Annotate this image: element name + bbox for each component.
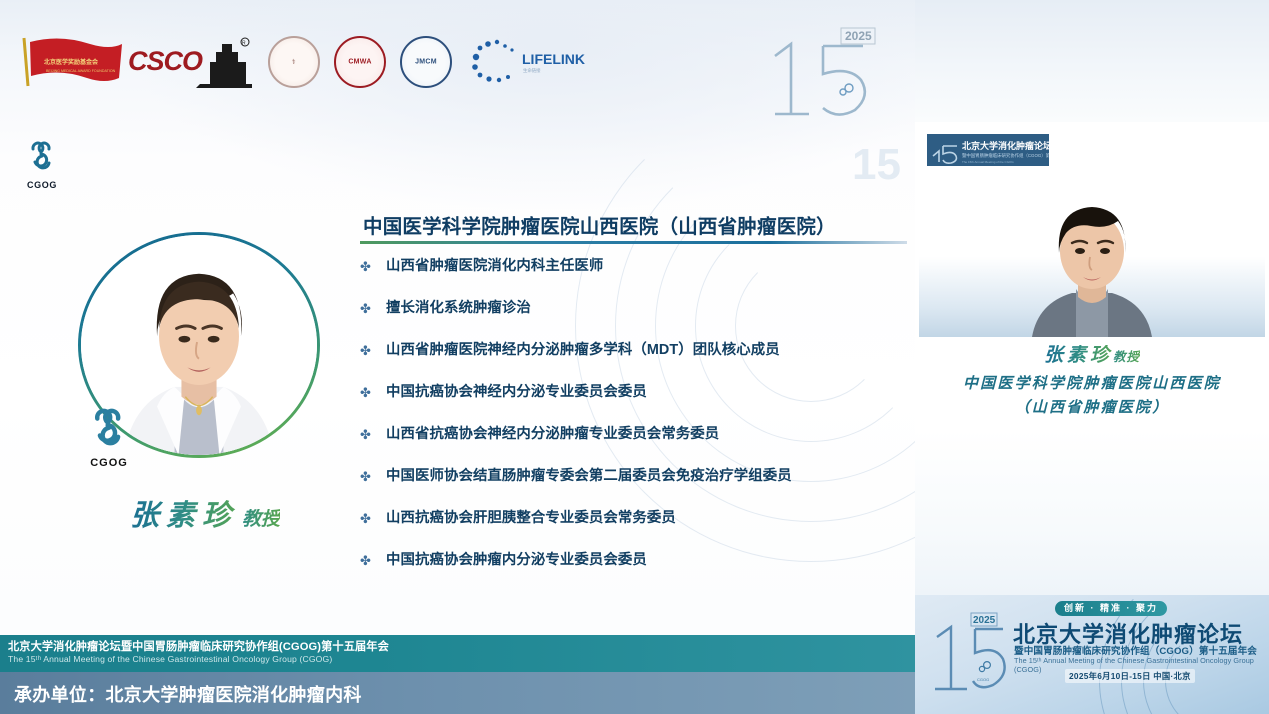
webinar-screen: 北京医学奖励基金会 BEIJING MEDICAL AWARD FOUNDATI…	[0, 0, 1269, 714]
video-conference-badge: 北京大学消化肿瘤论坛 暨中国胃肠肿瘤临床研究协作组（CGOG）第十五届年会 Th…	[927, 134, 1049, 166]
footer-band-cn: 北京大学消化肿瘤论坛暨中国胃肠肿瘤临床研究协作组(CGOG)第十五届年会	[8, 638, 389, 654]
svg-text:北京大学消化肿瘤论坛: 北京大学消化肿瘤论坛	[962, 140, 1049, 151]
credential-item: ✤山西抗癌协会肝胆胰整合专业委员会常务委员	[360, 508, 915, 550]
svg-text:生命链接: 生命链接	[523, 67, 541, 74]
heading-underline	[360, 241, 907, 244]
credential-item: ✤中国抗癌协会肿瘤内分泌专业委员会委员	[360, 550, 915, 592]
svg-text:R: R	[242, 41, 246, 47]
cgog-mark-icon	[22, 140, 62, 174]
caption-title: 教授	[1113, 350, 1140, 364]
conference-date: 2025年6月10日-15日 中国·北京	[1065, 669, 1195, 683]
credential-item: ✤山西省肿瘤医院消化内科主任医师	[360, 256, 915, 298]
jmcm-seal: JMCM	[400, 36, 452, 88]
svg-text:LIFELINK: LIFELINK	[522, 51, 585, 67]
conference-15-logo: 2025 CGOG	[927, 611, 1007, 695]
conference-subtitle-cn: 暨中国胃肠肿瘤临床研究协作组（CGOG）第十五届年会	[1014, 643, 1257, 657]
credential-item: ✤擅长消化系统肿瘤诊治	[360, 298, 915, 340]
bullet-marker-icon: ✤	[360, 298, 386, 319]
credential-text: 中国医师协会结直肠肿瘤专委会第二届委员会免疫治疗学组委员	[386, 466, 792, 486]
year-badge: 2025	[845, 29, 872, 43]
credential-text: 山西省肿瘤医院神经内分泌肿瘤多学科（MDT）团队核心成员	[386, 340, 780, 360]
host-footer-band: 承办单位：北京大学肿瘤医院消化肿瘤内科	[0, 672, 915, 714]
panel-middle-spacer	[915, 430, 1269, 595]
cmwa-seal-2: CMWA	[334, 36, 386, 88]
conference-15-mark-top-right: 2025	[757, 22, 887, 122]
credential-item: ✤中国抗癌协会神经内分泌专业委员会委员	[360, 382, 915, 424]
caption-name: 张素珍	[1044, 345, 1113, 366]
flag-emblem-logo: 北京医学奖励基金会 BEIJING MEDICAL AWARD FOUNDATI…	[18, 32, 128, 90]
speaker-video-feed[interactable]: 北京大学消化肿瘤论坛 暨中国胃肠肿瘤临床研究协作组（CGOG）第十五届年会 Th…	[919, 126, 1265, 337]
panel-top-gradient	[915, 0, 1269, 122]
slide-heading: 中国医学科学院肿瘤医院山西医院（山西省肿瘤医院）	[363, 210, 911, 239]
svg-text:北京医学奖励基金会: 北京医学奖励基金会	[44, 58, 99, 66]
svg-text:The 15th Annual Meeting of the: The 15th Annual Meeting of the CGOG	[962, 160, 1014, 164]
bullet-marker-icon: ✤	[360, 424, 386, 445]
credential-item: ✤中国医师协会结直肠肿瘤专委会第二届委员会免疫治疗学组委员	[360, 466, 915, 508]
credential-text: 擅长消化系统肿瘤诊治	[386, 298, 531, 318]
cmwa-seal-1: ⚕	[268, 36, 320, 88]
conference-footer-band: 北京大学消化肿瘤论坛暨中国胃肠肿瘤临床研究协作组(CGOG)第十五届年会 The…	[0, 635, 915, 672]
caption-affiliation-1: 中国医学科学院肿瘤医院山西医院	[915, 372, 1269, 393]
logo-year: 2025	[973, 615, 996, 626]
lifelink-logo: LIFELINK 生命链接	[470, 36, 590, 86]
speaker-portrait: CGOG	[78, 232, 320, 458]
svg-text:BEIJING MEDICAL AWARD FOUNDATI: BEIJING MEDICAL AWARD FOUNDATION	[46, 69, 116, 73]
conference-branding-block: 创新 · 精准 · 聚力 2025 CGOG 北京大学消化肿瘤论坛 暨中国胃肠肿…	[915, 595, 1269, 714]
speaker-side-panel: 北京大学消化肿瘤论坛 暨中国胃肠肿瘤临床研究协作组（CGOG）第十五届年会 Th…	[915, 0, 1269, 714]
credential-item: ✤山西省抗癌协会神经内分泌肿瘤专业委员会常务委员	[360, 424, 915, 466]
slide-watermark-15: 15	[852, 140, 901, 190]
cgog-wordmark: CGOG	[14, 180, 70, 190]
conference-tagline: 创新 · 精准 · 聚力	[1055, 601, 1167, 616]
cgog-wordmark-2: CGOG	[72, 457, 146, 469]
svg-text:暨中国胃肠肿瘤临床研究协作组（CGOG）第十五届年会: 暨中国胃肠肿瘤临床研究协作组（CGOG）第十五届年会	[962, 152, 1049, 159]
caption-affiliation-2: （山西省肿瘤医院）	[915, 396, 1269, 417]
panel-speaker-caption: 张素珍教授 中国医学科学院肿瘤医院山西医院 （山西省肿瘤医院）	[915, 340, 1269, 417]
bullet-marker-icon: ✤	[360, 466, 386, 487]
credential-text: 山西抗癌协会肝胆胰整合专业委员会常务委员	[386, 508, 676, 528]
cgog-logo-portrait: CGOG	[72, 406, 146, 472]
bullet-marker-icon: ✤	[360, 382, 386, 403]
speaker-title-text: 教授	[242, 509, 280, 530]
svg-text:CGOG: CGOG	[977, 677, 989, 682]
speaker-name-text: 张素珍	[130, 500, 238, 532]
credential-text: 山西省抗癌协会神经内分泌肿瘤专业委员会常务委员	[386, 424, 719, 444]
cgog-mark-icon-2	[83, 406, 135, 452]
footer-band-en: The 15ᵗʰ Annual Meeting of the Chinese G…	[8, 654, 332, 664]
credential-text: 中国抗癌协会肿瘤内分泌专业委员会委员	[386, 550, 647, 570]
credential-text: 中国抗癌协会神经内分泌专业委员会委员	[386, 382, 647, 402]
great-wall-logo: R	[196, 36, 254, 88]
cgog-logo-top-left: CGOG	[14, 140, 70, 190]
credential-item: ✤山西省肿瘤医院神经内分泌肿瘤多学科（MDT）团队核心成员	[360, 340, 915, 382]
credential-list: ✤山西省肿瘤医院消化内科主任医师✤擅长消化系统肿瘤诊治✤山西省肿瘤医院神经内分泌…	[360, 256, 915, 592]
csco-logo: CSCO	[128, 46, 202, 77]
footer-host-text: 承办单位：北京大学肿瘤医院消化肿瘤内科	[14, 681, 362, 707]
bullet-marker-icon: ✤	[360, 256, 386, 277]
bullet-marker-icon: ✤	[360, 340, 386, 361]
credential-text: 山西省肿瘤医院消化内科主任医师	[386, 256, 603, 276]
video-person	[1028, 207, 1156, 337]
presentation-slide: 北京医学奖励基金会 BEIJING MEDICAL AWARD FOUNDATI…	[0, 0, 915, 714]
speaker-name-block: 张素珍教授	[60, 492, 350, 534]
bullet-marker-icon: ✤	[360, 508, 386, 529]
bullet-marker-icon: ✤	[360, 550, 386, 571]
